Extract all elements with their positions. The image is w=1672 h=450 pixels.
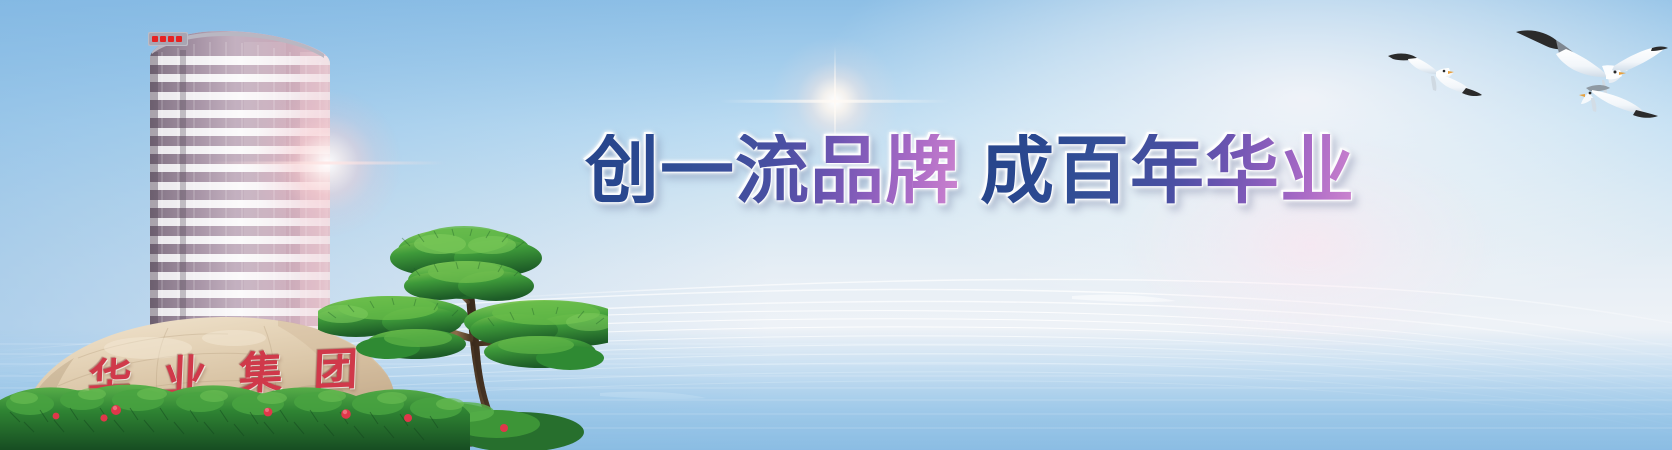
headline-right-phrase: 成百年华业: [980, 134, 1355, 208]
seagull-icon: [1370, 4, 1672, 132]
headline-left-phrase: 创一流品牌: [585, 134, 960, 208]
rooftop-sign: [148, 32, 188, 46]
page-title: 创一流品牌 成百年华业: [585, 128, 1355, 214]
seagull-icon: [1579, 85, 1658, 118]
hero-banner: 华 业 集 团: [0, 0, 1672, 450]
seagull-icon: [1388, 54, 1482, 97]
seagull-icon: [1516, 30, 1668, 94]
hedge-foliage: [0, 378, 470, 450]
sun-flare-icon: [252, 88, 402, 238]
